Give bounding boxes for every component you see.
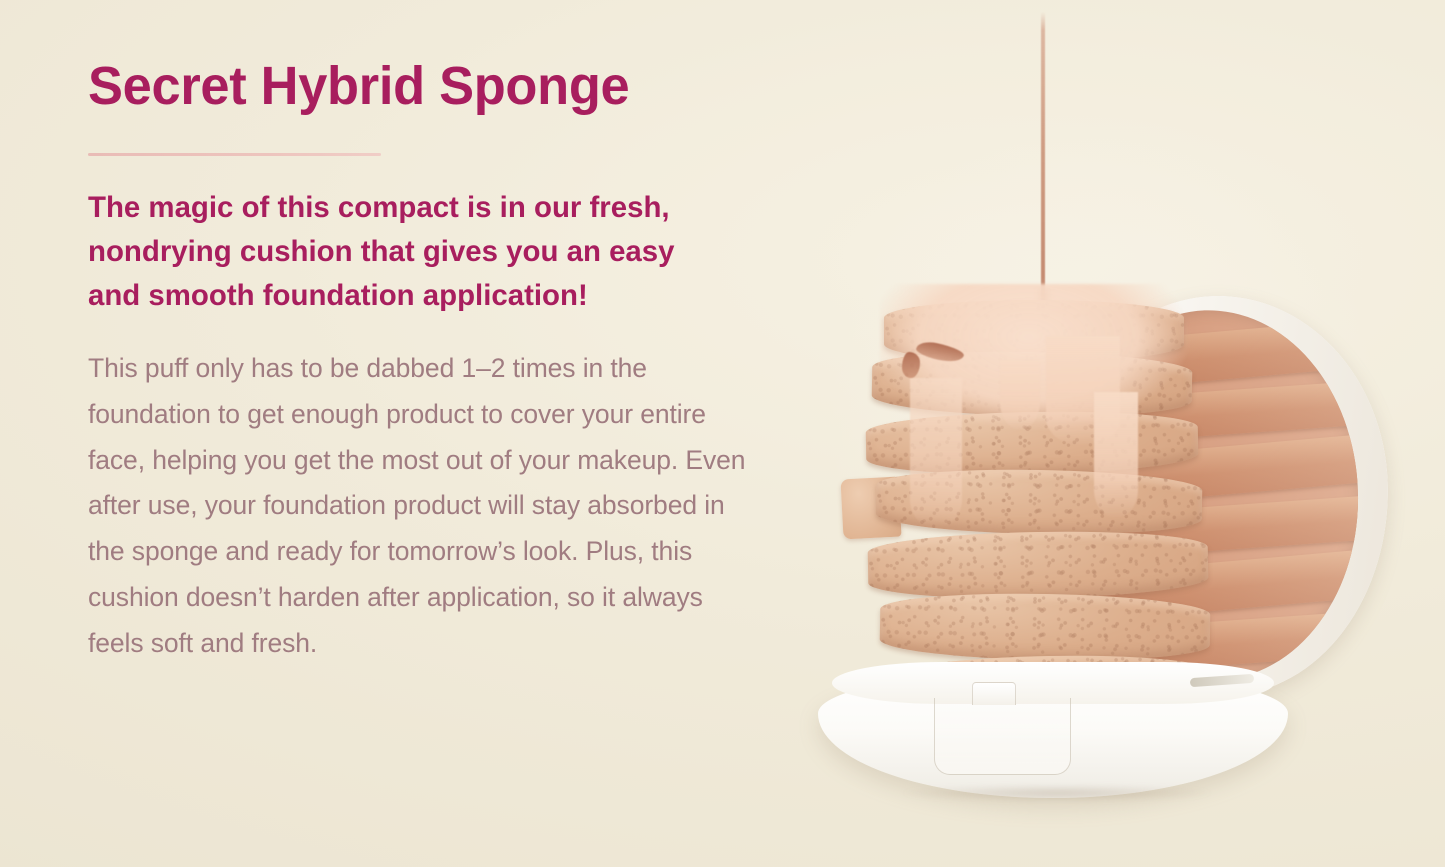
compact-latch bbox=[934, 698, 1071, 775]
compact-shadow bbox=[838, 782, 1276, 804]
foundation-stream-icon bbox=[1041, 12, 1045, 312]
text-column: Secret Hybrid Sponge The magic of this c… bbox=[88, 58, 788, 667]
compact-latch-tab bbox=[972, 682, 1016, 705]
body-paragraph: This puff only has to be dabbed 1–2 time… bbox=[88, 346, 756, 667]
foundation-drip bbox=[910, 378, 962, 528]
sponge-disc bbox=[879, 591, 1210, 663]
title-divider bbox=[88, 153, 381, 156]
sponge-disc bbox=[867, 529, 1208, 601]
subtitle-text: The magic of this compact is in our fres… bbox=[88, 186, 715, 319]
product-image bbox=[790, 0, 1445, 867]
foundation-drip bbox=[1000, 360, 1040, 430]
page-title: Secret Hybrid Sponge bbox=[88, 58, 767, 115]
promo-banner: Secret Hybrid Sponge The magic of this c… bbox=[0, 0, 1445, 867]
foundation-drip bbox=[1094, 392, 1138, 518]
